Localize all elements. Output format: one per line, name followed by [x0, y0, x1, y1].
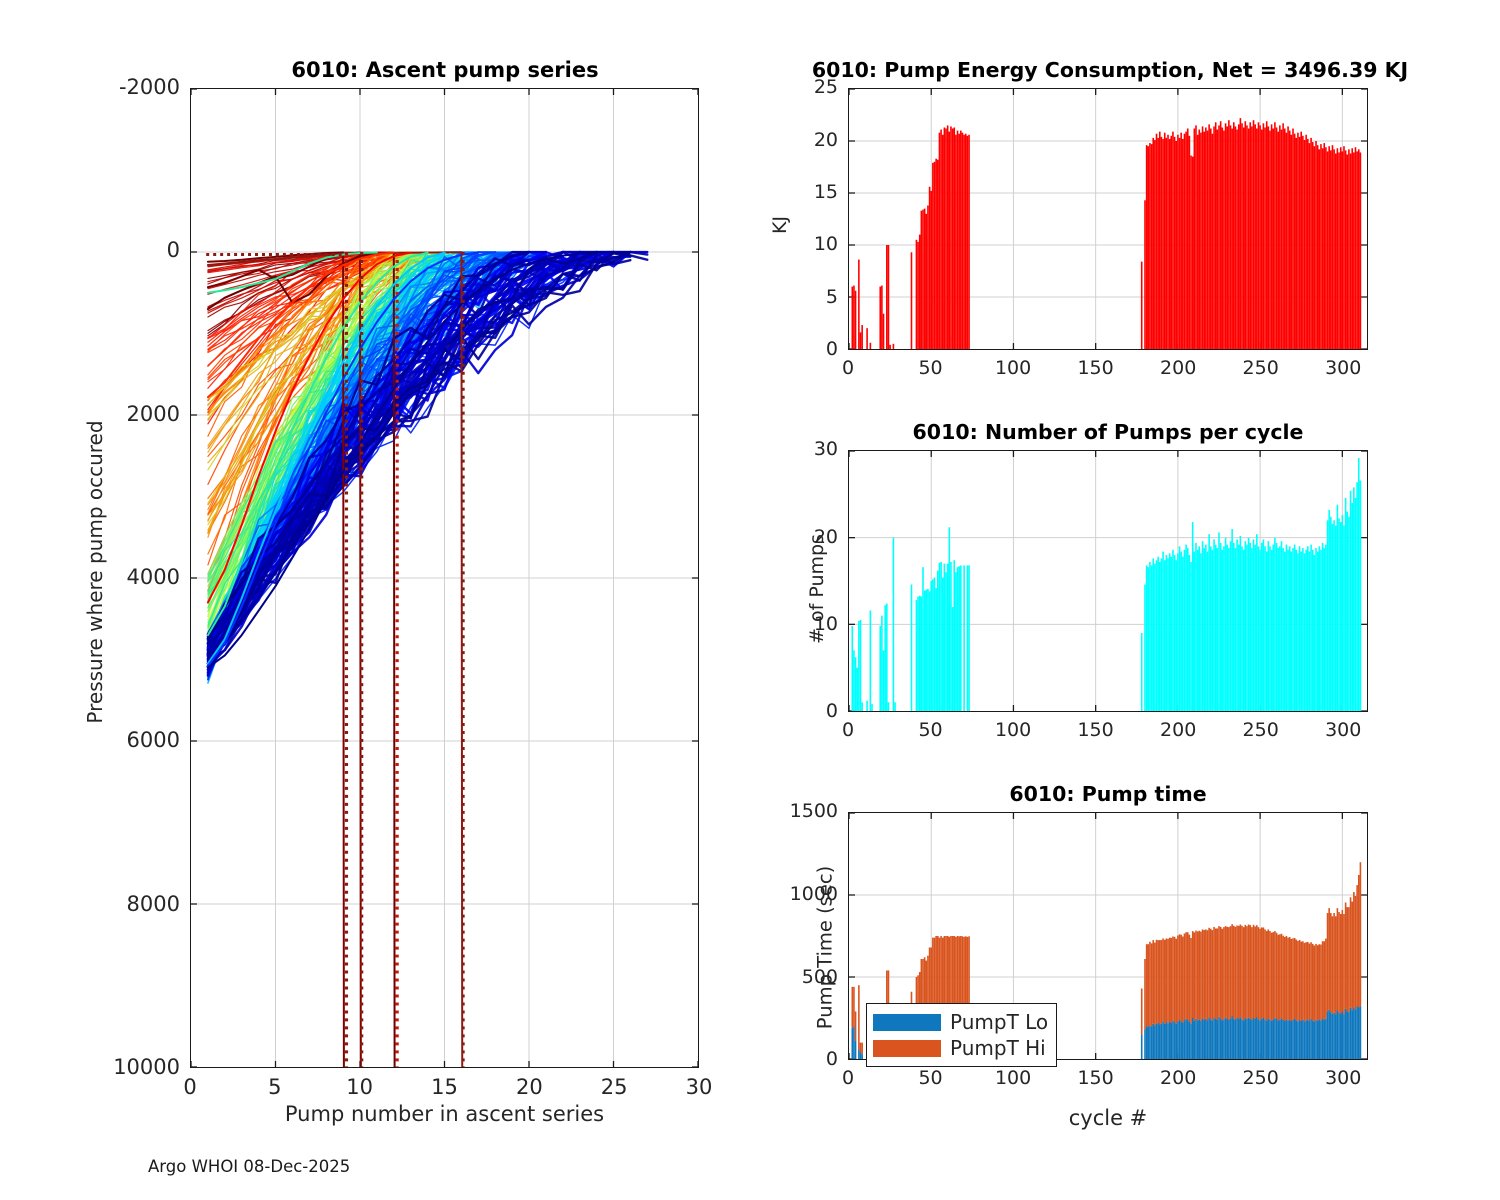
x-tick-label: 30	[654, 1075, 744, 1099]
x-tick-label: 50	[886, 357, 976, 379]
x-tick-label: 150	[1051, 719, 1141, 741]
y-tick-label: 0	[723, 700, 838, 722]
y-tick-label: 2000	[65, 402, 180, 426]
x-tick-label: 15	[400, 1075, 490, 1099]
x-tick-label: 50	[886, 719, 976, 741]
pump-energy-ylabel: KJ	[769, 145, 791, 305]
x-tick-label: 20	[484, 1075, 574, 1099]
legend-entry-pumpt-hi[interactable]: PumpT Hi	[873, 1035, 1048, 1061]
x-tick-label: 0	[803, 1067, 893, 1089]
pumps-per-cycle-axes[interactable]	[848, 450, 1368, 712]
y-tick-label: 25	[723, 76, 838, 98]
y-tick-label: -2000	[65, 75, 180, 99]
ascent-pump-series-axes[interactable]	[190, 88, 699, 1068]
y-tick-label: 10000	[65, 1055, 180, 1079]
x-tick-label: 200	[1133, 357, 1223, 379]
y-tick-label: 8000	[65, 892, 180, 916]
pump-energy-title: 6010: Pump Energy Consumption, Net = 349…	[760, 58, 1460, 82]
y-tick-label: 5	[723, 286, 838, 308]
figure-footer: Argo WHOI 08-Dec-2025	[148, 1157, 350, 1176]
x-tick-label: 100	[968, 357, 1058, 379]
legend-label-pumpt-lo: PumpT Lo	[950, 1012, 1048, 1032]
y-tick-label: 20	[723, 526, 838, 548]
x-tick-label: 100	[968, 1067, 1058, 1089]
x-tick-label: 150	[1051, 357, 1141, 379]
y-tick-label: 0	[723, 338, 838, 360]
pump-time-legend[interactable]: PumpT Lo PumpT Hi	[866, 1003, 1057, 1067]
pump-time-xlabel: cycle #	[848, 1106, 1368, 1130]
y-tick-label: 0	[723, 1048, 838, 1070]
y-tick-label: 4000	[65, 565, 180, 589]
x-tick-label: 250	[1216, 1067, 1306, 1089]
x-tick-label: 300	[1298, 1067, 1388, 1089]
y-tick-label: 30	[723, 438, 838, 460]
y-tick-label: 15	[723, 181, 838, 203]
x-tick-label: 250	[1216, 719, 1306, 741]
legend-entry-pumpt-lo[interactable]: PumpT Lo	[873, 1009, 1048, 1035]
y-tick-label: 6000	[65, 728, 180, 752]
x-tick-label: 25	[569, 1075, 659, 1099]
legend-label-pumpt-hi: PumpT Hi	[950, 1038, 1046, 1058]
x-tick-label: 5	[230, 1075, 320, 1099]
legend-swatch-pumpt-lo	[873, 1014, 941, 1031]
pump-energy-axes[interactable]	[848, 88, 1368, 350]
y-tick-label: 20	[723, 129, 838, 151]
y-tick-label: 1000	[723, 883, 838, 905]
pumps-per-cycle-title: 6010: Number of Pumps per cycle	[848, 420, 1368, 444]
y-tick-label: 1500	[723, 800, 838, 822]
x-tick-label: 100	[968, 719, 1058, 741]
ascent-pump-series-xlabel: Pump number in ascent series	[190, 1102, 699, 1126]
x-tick-label: 250	[1216, 357, 1306, 379]
pump-time-title: 6010: Pump time	[848, 782, 1368, 806]
x-tick-label: 200	[1133, 1067, 1223, 1089]
x-tick-label: 0	[803, 357, 893, 379]
x-tick-label: 50	[886, 1067, 976, 1089]
x-tick-label: 300	[1298, 719, 1388, 741]
y-tick-label: 500	[723, 966, 838, 988]
y-tick-label: 0	[65, 238, 180, 262]
y-tick-label: 10	[723, 613, 838, 635]
x-tick-label: 150	[1051, 1067, 1141, 1089]
x-tick-label: 300	[1298, 357, 1388, 379]
x-tick-label: 200	[1133, 719, 1223, 741]
y-tick-label: 10	[723, 233, 838, 255]
x-tick-label: 10	[315, 1075, 405, 1099]
legend-swatch-pumpt-hi	[873, 1040, 941, 1057]
ascent-pump-series-title: 6010: Ascent pump series	[190, 58, 700, 82]
pumps-per-cycle-ylabel: # of Pumps	[806, 454, 828, 724]
x-tick-label: 0	[803, 719, 893, 741]
